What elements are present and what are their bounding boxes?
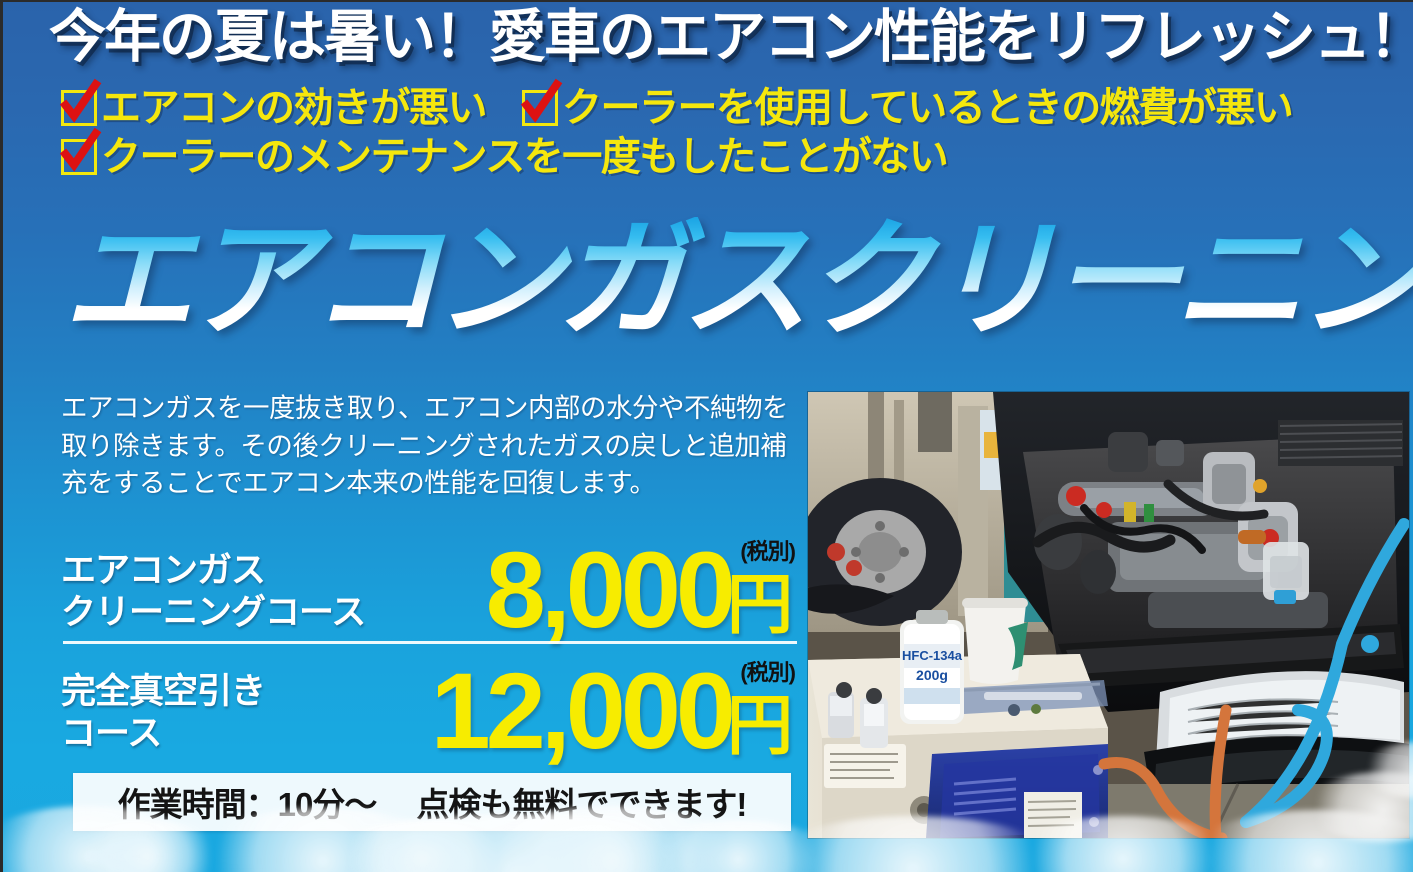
checklist-item-label: クーラーを使用しているときの燃費が悪い: [562, 88, 1292, 128]
course-name: エアコンガス クリーニングコース: [61, 550, 365, 639]
advertisement-poster: 今年の夏は暑い！愛車のエアコン性能をリフレッシュ！ エアコンの効きが悪い クーラ…: [0, 0, 1413, 872]
service-description: エアコンガスを一度抜き取り、エアコン内部の水分や不純物を取り除きます。その後クリ…: [61, 390, 801, 503]
checklist-row: クーラーのメンテナンスを一度もしたことがない: [61, 137, 1401, 177]
pricing-table: エアコンガス クリーニングコース 8,000 円 (税別) 完全真空引き コース…: [61, 529, 801, 760]
left-content-column: エアコンガスを一度抜き取り、エアコン内部の水分や不純物を取り除きます。その後クリ…: [61, 390, 801, 760]
checklist-item-label: クーラーのメンテナンスを一度もしたことがない: [101, 137, 947, 177]
price-group: 12,000 円 (税別): [431, 661, 801, 760]
course-name-line2: コース: [61, 714, 161, 753]
price-amount: 12,000: [431, 661, 731, 760]
checklist-item: クーラーを使用しているときの燃費が悪い: [522, 88, 1292, 128]
price-group: 8,000 円 (税別): [486, 540, 801, 639]
checklist: エアコンの効きが悪い クーラーを使用しているときの燃費が悪い クーラーのメンテ: [61, 88, 1401, 186]
service-name-title: エアコンガスクリーニング: [63, 217, 1413, 345]
tax-note: (税別): [740, 534, 795, 566]
checklist-item-label: エアコンの効きが悪い: [101, 88, 486, 128]
checkbox-checked-icon: [522, 90, 558, 126]
price-amount: 8,000: [486, 540, 731, 639]
course-name-line1: エアコンガス: [61, 551, 265, 590]
pricing-divider: [63, 641, 797, 644]
tax-note: (税別): [740, 655, 795, 687]
page-title: 今年の夏は暑い！愛車のエアコン性能をリフレッシュ！: [49, 8, 1409, 68]
pricing-row: 完全真空引き コース 12,000 円 (税別): [61, 650, 801, 760]
price-currency: 円: [727, 571, 791, 639]
pricing-row: エアコンガス クリーニングコース 8,000 円 (税別): [61, 529, 801, 639]
free-inspection-label: 点検も無料でできます!: [416, 778, 746, 826]
svg-text:HFC-134a: HFC-134a: [902, 648, 963, 663]
checkbox-checked-icon: [61, 90, 97, 126]
checkbox-checked-icon: [61, 139, 97, 175]
course-name: 完全真空引き コース: [61, 671, 265, 760]
checklist-row: エアコンの効きが悪い クーラーを使用しているときの燃費が悪い: [61, 88, 1401, 128]
checklist-item: エアコンの効きが悪い: [61, 88, 486, 128]
service-photo: HFC-134a 200g: [808, 392, 1409, 838]
svg-text:200g: 200g: [916, 667, 948, 683]
price-currency: 円: [727, 692, 791, 760]
work-time-label: 作業時間：10分〜: [118, 778, 377, 826]
info-banner: 作業時間：10分〜 点検も無料でできます!: [73, 773, 791, 831]
course-name-line1: 完全真空引き: [61, 672, 265, 711]
checklist-item: クーラーのメンテナンスを一度もしたことがない: [61, 137, 947, 177]
course-name-line2: クリーニングコース: [61, 593, 365, 632]
